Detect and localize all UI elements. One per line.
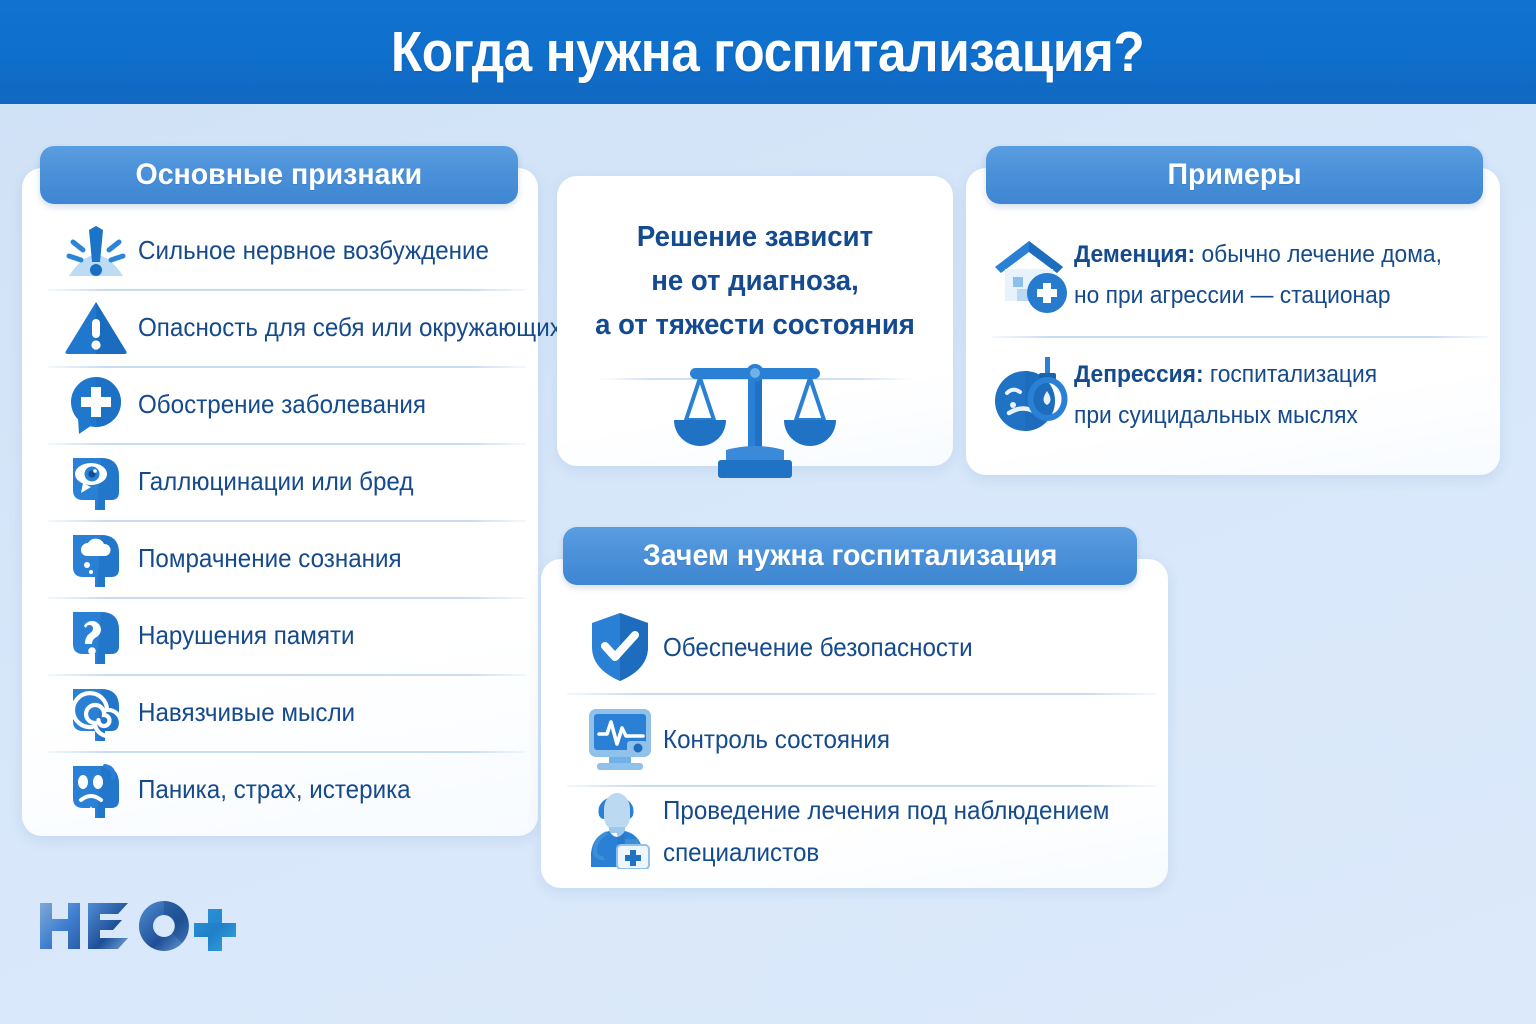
list-item[interactable]: Паника, страх, истерика: [22, 751, 538, 828]
list-item[interactable]: Нарушения памяти: [22, 597, 538, 674]
example-line-2: но при агрессии — стационар: [1074, 282, 1390, 309]
list-item[interactable]: Обеспечение безопасности: [541, 601, 1168, 693]
why-list: Обеспечение безопасности Контроль состоя…: [541, 601, 1168, 877]
example-text: Деменция: обычно лечение дома, но при аг…: [1074, 230, 1442, 317]
examples-list: Деменция: обычно лечение дома, но при аг…: [966, 216, 1500, 456]
list-item-label: Галлюцинации или бред: [138, 466, 413, 497]
page-title: Когда нужна госпитализация?: [391, 24, 1144, 81]
list-item-label: Обострение заболевания: [138, 389, 426, 420]
quote-line-3: а от тяжести состояния: [567, 303, 943, 347]
list-item-label: Проведение лечения под наблюдением специ…: [663, 789, 1133, 873]
list-item[interactable]: Навязчивые мысли: [22, 674, 538, 751]
list-item[interactable]: Сильное нервное возбуждение: [22, 212, 538, 289]
list-item[interactable]: Деменция: обычно лечение дома, но при аг…: [966, 216, 1500, 336]
quote-line-2: не от диагноза,: [567, 259, 943, 303]
head-eye-icon: [58, 450, 134, 514]
why-panel-header: Зачем нужна госпитализация: [563, 527, 1137, 585]
head-question-icon: [58, 604, 134, 668]
list-item[interactable]: Галлюцинации или бред: [22, 443, 538, 520]
warning-triangle-icon: [58, 296, 134, 360]
list-item-label: Навязчивые мысли: [138, 697, 355, 728]
signs-list: Сильное нервное возбуждение Опасность дл…: [22, 212, 538, 828]
signs-panel-header: Основные признаки: [40, 146, 518, 204]
head-spiral-icon: [58, 681, 134, 745]
signs-panel-title: Основные признаки: [136, 160, 423, 190]
list-item-label: Опасность для себя или окружающих: [138, 312, 562, 343]
quote-line-1: Решение зависит: [567, 215, 943, 259]
example-rest: обычно лечение дома,: [1195, 241, 1442, 268]
header-bar: Когда нужна госпитализация?: [0, 0, 1536, 104]
medical-cross-bubble-icon: [58, 373, 134, 437]
examples-panel-header: Примеры: [986, 146, 1483, 204]
why-panel-title: Зачем нужна госпитализация: [643, 541, 1057, 571]
example-line-2: при суицидальных мыслях: [1074, 402, 1358, 429]
house-medical-cross-icon: [988, 230, 1074, 320]
list-item-label: Помрачнение сознания: [138, 543, 402, 574]
example-text: Депрессия: госпитализация при суицидальн…: [1074, 350, 1377, 437]
decision-quote-text: Решение зависит не от диагноза, а от тяж…: [567, 215, 943, 347]
head-cloud-icon: [58, 527, 134, 591]
example-lead: Депрессия:: [1074, 361, 1204, 388]
list-item[interactable]: Контроль состояния: [541, 693, 1168, 785]
list-item-label: Паника, страх, истерика: [138, 774, 411, 805]
sad-face-noose-icon: [988, 350, 1074, 440]
head-panic-face-icon: [58, 758, 134, 822]
scales-balance-icon: [660, 352, 850, 484]
doctor-medical-bag-icon: [577, 793, 663, 869]
list-item[interactable]: Обострение заболевания: [22, 366, 538, 443]
list-item-label: Контроль состояния: [663, 718, 890, 760]
example-rest: госпитализация: [1204, 361, 1377, 388]
list-item[interactable]: Опасность для себя или окружающих: [22, 289, 538, 366]
examples-panel-title: Примеры: [1167, 160, 1301, 190]
neo-plus-logo: [36, 897, 246, 955]
exclamation-burst-icon: [58, 219, 134, 283]
list-item[interactable]: Депрессия: госпитализация при суицидальн…: [966, 336, 1500, 456]
example-lead: Деменция:: [1074, 241, 1195, 268]
list-item[interactable]: Проведение лечения под наблюдением специ…: [541, 785, 1168, 877]
heart-monitor-icon: [577, 701, 663, 777]
list-item-label: Сильное нервное возбуждение: [138, 235, 489, 266]
list-item-label: Нарушения памяти: [138, 620, 355, 651]
list-item-label: Обеспечение безопасности: [663, 626, 973, 668]
shield-check-icon: [577, 609, 663, 685]
list-item[interactable]: Помрачнение сознания: [22, 520, 538, 597]
